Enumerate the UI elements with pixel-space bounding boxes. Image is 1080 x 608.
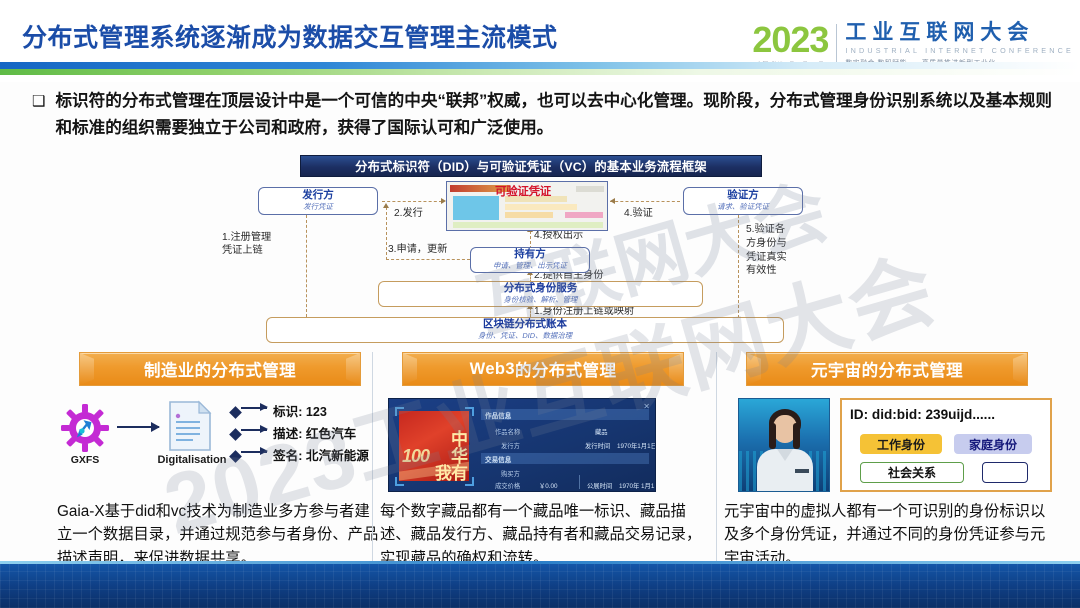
arrow-attr-2 xyxy=(241,429,267,431)
column-heading-emphasis: 制造业 xyxy=(144,357,195,381)
flow-node-ledger-sub: 身份、凭证、DID、数据治理 xyxy=(478,332,572,341)
flow-node-issuer-sub: 发行凭证 xyxy=(303,203,333,212)
credential-row xyxy=(505,212,553,218)
connector-apply-vert xyxy=(386,207,387,260)
bullet-text: 标识符的分布式管理在顶层设计中是一个可信的中央“联邦”权威，也可以去中心化管理。… xyxy=(55,88,1052,142)
credential-label: 可验证凭证 xyxy=(495,183,551,199)
column-metaverse: 元宇宙的分布式管理 ID: did:bid: 239uijd...... 工作身… xyxy=(722,352,1052,570)
section-header-trade: 交易信息 xyxy=(481,453,649,464)
verifiable-credential-card: 可验证凭证 xyxy=(446,181,608,231)
flow-label-step2-issue: 2.发行 xyxy=(394,207,423,220)
field-label-issuer: 发行方 xyxy=(501,441,520,450)
connector-register xyxy=(306,215,307,317)
header-rule-blue xyxy=(0,62,1080,69)
column-heading-emphasis: 元宇宙 xyxy=(811,357,862,381)
connector-apply-horz xyxy=(386,259,470,260)
flow-node-service-name: 分布式身份服务 xyxy=(504,283,578,295)
field-value-public-time: 1970年 1月1日 xyxy=(619,481,656,490)
credential-row xyxy=(565,212,603,218)
logo-chinese-name: 工业互联网大会 xyxy=(845,22,1074,44)
column-heading-rest: 的分布式管理 xyxy=(515,357,616,381)
selection-corner xyxy=(395,477,404,486)
page-title: 分布式管理系统逐渐成为数据交互管理主流模式 xyxy=(22,18,558,54)
avatar-hair-right xyxy=(793,423,800,449)
field-divider xyxy=(579,475,580,489)
field-value-issue-time: 1970年1月1日 xyxy=(617,441,656,450)
flow-node-identity-service: 分布式身份服务 身份核验、解析、管理 xyxy=(378,281,703,307)
logo-divider xyxy=(836,24,837,66)
identity-did-value: ID: did:bid: 239uijd...... xyxy=(850,407,995,422)
column-heading-rest: 的分布式管理 xyxy=(195,357,296,381)
gear-icon xyxy=(61,404,109,452)
section-label-trade: 交易信息 xyxy=(485,454,511,464)
flow-label-step5-verify: 5.验证各 方身份与 凭证真实 有效性 xyxy=(746,223,802,278)
flow-node-verifier: 验证方 请求、验证凭证 xyxy=(683,187,803,215)
column-graphic-gxfs: GXFS Digitalisation 标识: 123 xyxy=(55,396,385,492)
flow-diagram-title: 分布式标识符（DID）与可验证凭证（VC）的基本业务流程框架 xyxy=(300,155,762,177)
arrow-attr-3 xyxy=(241,451,267,453)
field-value-price: ￥0.00 xyxy=(539,481,558,490)
flow-node-holder: 持有方 申请、管理、出示凭证 xyxy=(470,247,590,273)
flow-label-step3-apply: 3.申请，更新 xyxy=(388,243,447,256)
gxfs-label: GXFS xyxy=(61,454,109,466)
bullet-marker-icon: ❑ xyxy=(32,88,45,142)
selection-corner xyxy=(465,407,474,416)
did-vc-flow-diagram: 分布式标识符（DID）与可验证凭证（VC）的基本业务流程框架 2.发行 4.验证… xyxy=(258,155,803,345)
field-label-public-time: 公展时间 xyxy=(587,481,612,490)
virtual-human-avatar xyxy=(738,398,830,492)
selection-corner xyxy=(395,407,404,416)
column-caption-web3: 每个数字藏品都有一个藏品唯一标识、藏品描述、藏品发行方、藏品持有者和藏品交易记录… xyxy=(378,500,708,570)
identity-chip-social[interactable]: 社会关系 xyxy=(860,462,964,483)
column-divider xyxy=(716,352,717,567)
arrowhead-apply xyxy=(383,203,389,208)
diamond-bullet xyxy=(229,428,242,441)
selection-corner xyxy=(465,477,474,486)
column-heading-emphasis: Web3 xyxy=(470,360,515,379)
flow-node-holder-name: 持有方 xyxy=(514,249,546,261)
field-label-price: 成交价格 xyxy=(495,481,520,490)
column-caption-manufacturing: Gaia-X基于did和vc技术为制造业多方参与者建立一个数据目录，并通过规范参… xyxy=(55,500,385,570)
digital-collectible-poster: 100 中华有我 xyxy=(399,411,469,481)
credential-row xyxy=(505,204,577,210)
slide-header: 分布式管理系统逐渐成为数据交互管理主流模式 2023 中国·常州 9月15日-1… xyxy=(0,0,1080,82)
identity-chip-work[interactable]: 工作身份 xyxy=(860,434,942,454)
credential-side-row xyxy=(576,186,604,192)
digitalisation-label: Digitalisation xyxy=(151,454,233,466)
flow-node-verifier-sub: 请求、验证凭证 xyxy=(717,203,769,212)
slide-root: 分布式管理系统逐渐成为数据交互管理主流模式 2023 中国·常州 9月15日-1… xyxy=(0,0,1080,608)
column-heading-rest: 的分布式管理 xyxy=(862,357,963,381)
arrow-attr-1 xyxy=(241,407,267,409)
flow-node-verifier-name: 验证方 xyxy=(727,190,759,202)
identity-chip-family[interactable]: 家庭身份 xyxy=(954,434,1032,454)
logo-english-name: INDUSTRIAL INTERNET CONFERENCE xyxy=(845,46,1074,55)
logo-year: 2023 xyxy=(752,22,828,58)
column-caption-metaverse: 元宇宙中的虚拟人都有一个可识别的身份标识以及多个身份凭证，并通过不同的身份凭证参… xyxy=(722,500,1052,570)
flow-node-issuer-name: 发行方 xyxy=(302,190,334,202)
column-divider xyxy=(372,352,373,567)
identity-card-panel: ID: did:bid: 239uijd...... 工作身份 家庭身份 社会关… xyxy=(840,398,1052,492)
header-rule-green xyxy=(0,69,1080,75)
credential-row xyxy=(453,222,603,228)
column-heading-metaverse: 元宇宙的分布式管理 xyxy=(746,352,1028,386)
attribute-identifier: 标识: 123 xyxy=(273,401,327,420)
flow-node-blockchain-ledger: 区块链分布式账本 身份、凭证、DID、数据治理 xyxy=(266,317,784,343)
poster-title: 中华有我 xyxy=(433,415,465,481)
column-heading-manufacturing: 制造业的分布式管理 xyxy=(79,352,361,386)
column-graphic-web3: ✕ 100 中华有我 作品信息 作品名称 藏品 发行方 发行时间 1970年1月… xyxy=(378,396,708,492)
flow-node-holder-sub: 申请、管理、出示凭证 xyxy=(493,262,567,271)
field-value-artwork-name: 藏品 xyxy=(595,427,608,436)
field-label-artwork-name: 作品名称 xyxy=(495,427,520,436)
credential-photo xyxy=(453,196,499,220)
document-icon xyxy=(167,400,213,452)
bottom-band xyxy=(0,564,1080,608)
diamond-bullet xyxy=(229,406,242,419)
column-web3: Web3的分布式管理 ✕ 100 中华有我 作品信息 作品名称 藏品 发 xyxy=(378,352,708,570)
section-label-artwork: 作品信息 xyxy=(485,410,511,420)
flow-label-step4-verify: 4.验证 xyxy=(624,207,653,220)
attribute-description: 描述: 红色汽车 xyxy=(273,423,356,442)
avatar-badge xyxy=(795,469,809,473)
identity-chip-empty[interactable] xyxy=(982,462,1028,483)
avatar-hair-left xyxy=(769,423,776,449)
flow-node-ledger-name: 区块链分布式账本 xyxy=(483,319,567,331)
column-graphic-metaverse: ID: did:bid: 239uijd...... 工作身份 家庭身份 社会关… xyxy=(722,396,1052,492)
connector-verify xyxy=(610,201,680,202)
column-heading-web3: Web3的分布式管理 xyxy=(402,352,684,386)
flow-label-step1-register: 1.注册管理 凭证上链 xyxy=(222,231,300,258)
flow-node-service-sub: 身份核验、解析、管理 xyxy=(504,296,578,305)
flow-node-issuer: 发行方 发行凭证 xyxy=(258,187,378,215)
field-label-buyer: 购买方 xyxy=(501,469,520,478)
web3-app-screenshot: ✕ 100 中华有我 作品信息 作品名称 藏品 发行方 发行时间 1970年1月… xyxy=(388,398,656,492)
arrowhead-verify xyxy=(610,198,615,204)
attribute-signature: 签名: 北汽新能源 xyxy=(273,445,369,464)
section-header-artwork: 作品信息 xyxy=(481,409,649,420)
column-manufacturing: 制造业的分布式管理 xyxy=(55,352,385,570)
field-label-issue-time: 发行时间 xyxy=(585,441,610,450)
arrow-gxfs-to-doc xyxy=(117,426,159,428)
bullet-paragraph: ❑ 标识符的分布式管理在顶层设计中是一个可信的中央“联邦”权威，也可以去中心化管… xyxy=(32,88,1052,142)
poster-number: 100 xyxy=(402,446,429,467)
connector-issue xyxy=(382,201,442,202)
